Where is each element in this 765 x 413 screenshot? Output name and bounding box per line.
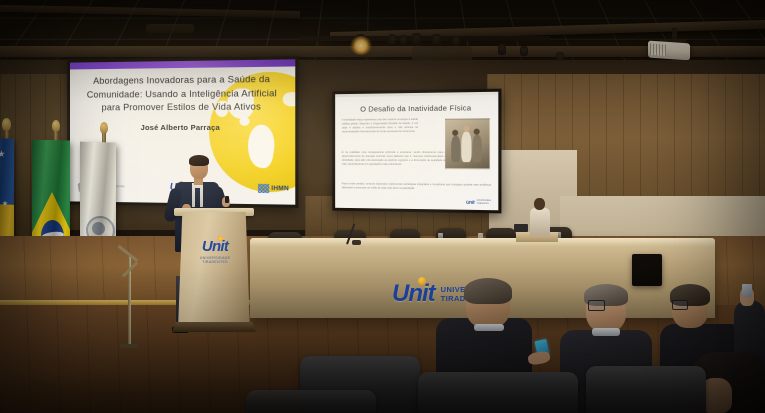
ihmn-grid-icon (258, 184, 269, 193)
water-glass (438, 233, 443, 241)
ceiling-projector (648, 41, 690, 61)
slide-side-footer-logo: Unit UNIVERSIDADE TIRADENTES (466, 200, 491, 205)
wall-speaker (632, 254, 662, 286)
slide-side-photo (445, 118, 490, 169)
speaker-tie (195, 188, 200, 210)
operator-body (530, 208, 550, 236)
smartphone (742, 284, 752, 297)
slide-side-paragraph-2: É na realidade uma consequência profunda… (342, 151, 446, 168)
podium-logo-sub-2: TIRADENTES (192, 260, 238, 264)
eyeglasses (672, 300, 688, 310)
podium-base (172, 322, 256, 332)
slide-author: José Alberto Parraça (79, 123, 286, 132)
slide-accent-band (70, 59, 295, 69)
podium-logo-word: Unit (202, 238, 228, 255)
mic-stand-base (120, 344, 138, 348)
podium-unit-logo: Unit UNIVERSIDADE TIRADENTES (192, 238, 238, 262)
presenter-remote (225, 196, 229, 203)
slide-side-title: O Desafio da Inatividade Física (335, 103, 498, 114)
ceiling-fixture-panel (146, 24, 194, 33)
podium-logo-dot-icon (218, 236, 223, 241)
lit-spotlight (350, 36, 372, 55)
operator-laptop (514, 224, 528, 232)
eyeglasses (588, 300, 605, 311)
table-logo-word: Unit (392, 280, 435, 308)
table-logo-dot-icon (418, 277, 426, 285)
audience-seat (246, 390, 376, 413)
track-light-head (520, 46, 528, 56)
slide-side: O Desafio da Inatividade Física A inativ… (335, 92, 498, 211)
ihmn-logo-label: IHMN (271, 185, 289, 192)
track-light-head (412, 33, 421, 45)
water-glass (478, 233, 483, 241)
track-light-head (452, 36, 460, 46)
track-light-head (498, 44, 506, 55)
audience-hair (464, 278, 512, 304)
operator-head (534, 198, 545, 210)
podium (178, 212, 250, 330)
audience-collar (474, 324, 504, 331)
slide-title: Abordagens Inovadoras para a Saúde da Co… (79, 73, 286, 115)
microphone-base (352, 240, 361, 245)
ihmn-logo: IHMN (258, 184, 289, 194)
speaker-hair (189, 155, 209, 166)
audience-collar (592, 328, 620, 336)
auditorium-photo: Abordagens Inovadoras para a Saúde da Co… (0, 0, 765, 413)
audience-seat (586, 366, 706, 413)
audience-seat (418, 372, 578, 413)
slide-side-paragraph-3: Face a este cenário, torna-se imperativo… (342, 182, 491, 192)
slide-side-top-edge (335, 92, 498, 97)
track-light-head (432, 34, 441, 45)
light-track (300, 36, 550, 41)
slide-side-paragraph-1: A inatividade física representa uma das … (342, 118, 418, 135)
projection-screen-side: O Desafio da Inatividade Física A inativ… (332, 89, 501, 214)
